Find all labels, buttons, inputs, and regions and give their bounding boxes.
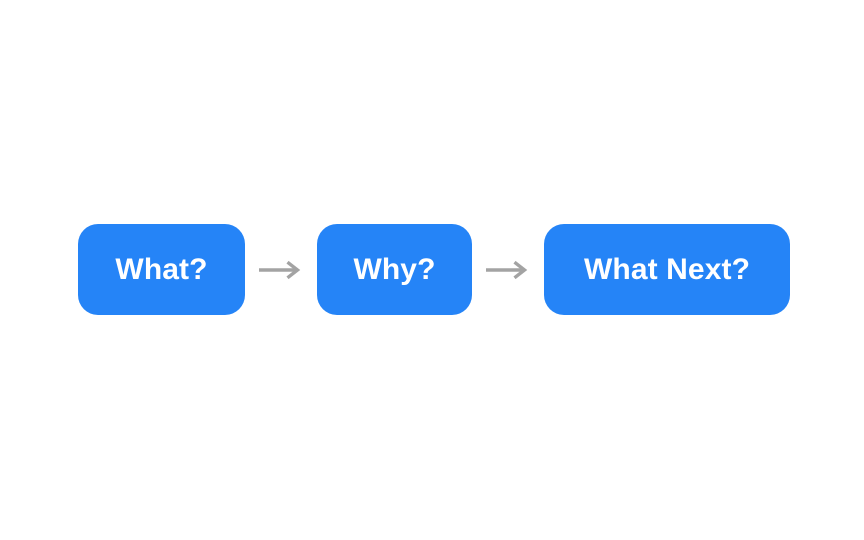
flow-connector-1 — [245, 224, 317, 315]
arrow-right-icon — [257, 258, 305, 282]
flow-node-what[interactable]: What? — [78, 224, 245, 315]
diagram-canvas: What? Why? What — [0, 0, 864, 540]
flow-node-label: Why? — [353, 255, 435, 285]
flow-connector-2 — [472, 224, 544, 315]
flow-node-label: What? — [115, 255, 207, 285]
flow-node-label: What Next? — [584, 255, 750, 285]
flow-node-what-next[interactable]: What Next? — [544, 224, 790, 315]
arrow-right-icon — [484, 258, 532, 282]
flow-node-why[interactable]: Why? — [317, 224, 472, 315]
flow-sequence: What? Why? What — [78, 224, 790, 315]
